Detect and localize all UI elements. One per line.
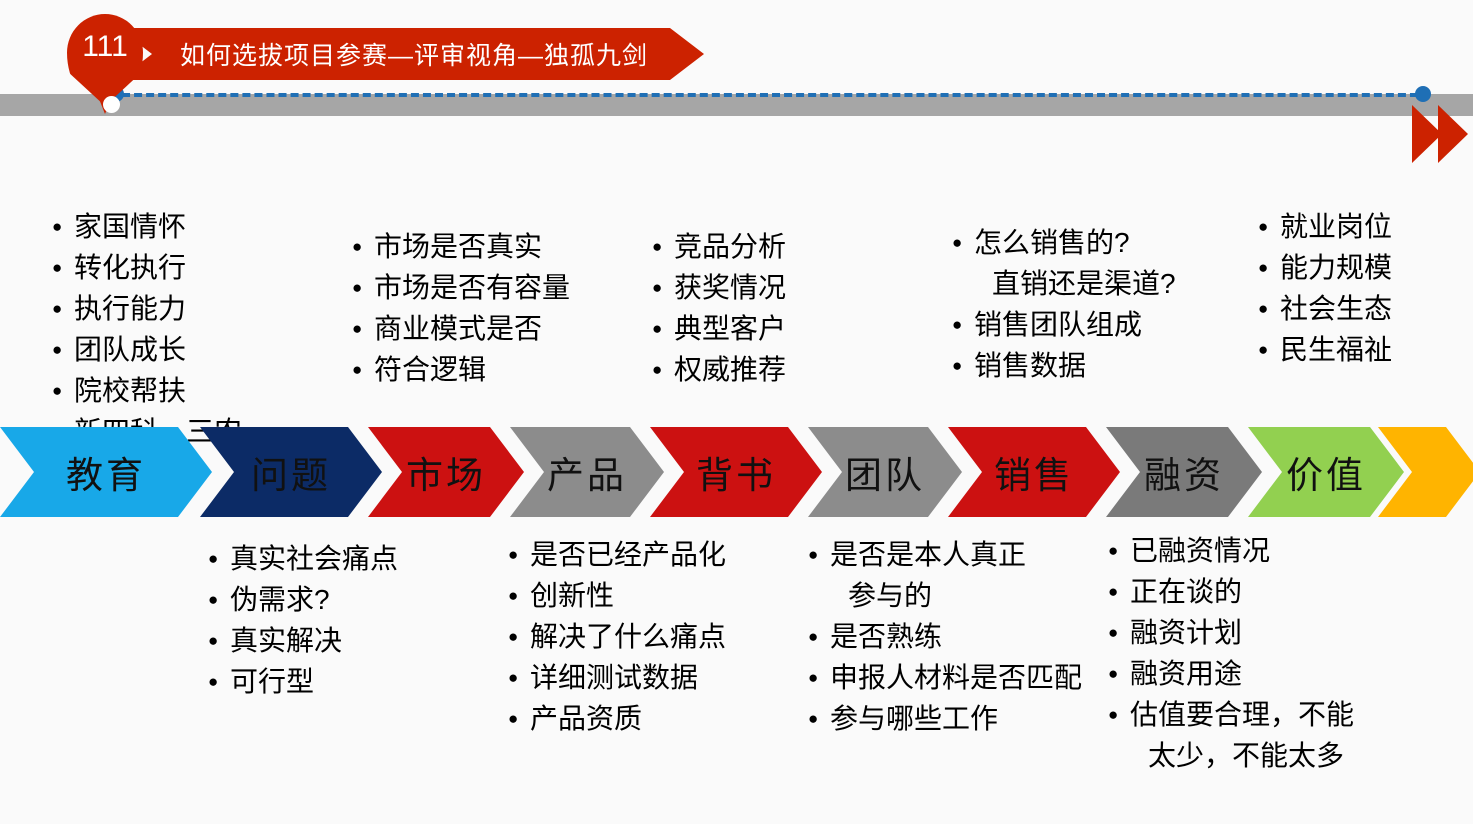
top-column-education: 家国情怀转化执行执行能力团队成长院校帮扶新四科、三农: [52, 206, 242, 452]
list-item: 解决了什么痛点: [508, 616, 726, 657]
process-step-产品[interactable]: 产品: [510, 427, 664, 517]
bottom-column-financing: 已融资情况正在谈的融资计划融资用途估值要合理，不能太少，不能太多: [1108, 530, 1354, 776]
list-item: 销售数据: [952, 345, 1176, 386]
process-step-教育[interactable]: 教育: [0, 427, 212, 517]
process-step-label: 市场: [406, 445, 486, 499]
list-item: 伪需求?: [208, 579, 398, 620]
top-column-value: 就业岗位能力规模社会生态民生福祉: [1258, 206, 1392, 370]
process-step-价值[interactable]: 价值: [1248, 427, 1404, 517]
list-item: 真实社会痛点: [208, 538, 398, 579]
list-item: 申报人材料是否匹配: [808, 657, 1082, 698]
title-banner: 如何选拔项目参赛—评审视角—独孤九剑: [118, 28, 704, 80]
list-item: 是否是本人真正: [808, 534, 1082, 575]
process-step-问题[interactable]: 问题: [200, 427, 382, 517]
bottom-column-team: 是否是本人真正参与的是否熟练申报人材料是否匹配参与哪些工作: [808, 534, 1082, 739]
header-dashed-line: [110, 93, 1430, 97]
list-item: 融资用途: [1108, 653, 1354, 694]
list-item: 真实解决: [208, 620, 398, 661]
pin-tip-dot: [103, 96, 120, 113]
list-item: 就业岗位: [1258, 206, 1392, 247]
list-item: 直销还是渠道?: [952, 263, 1176, 304]
list-item: 获奖情况: [652, 267, 786, 308]
list-item: 估值要合理，不能: [1108, 694, 1354, 735]
list-item: 家国情怀: [52, 206, 242, 247]
bottom-column-problem: 真实社会痛点伪需求?真实解决可行型: [208, 538, 398, 702]
list-item: 是否已经产品化: [508, 534, 726, 575]
top-column-market: 市场是否真实市场是否有容量商业模式是否符合逻辑: [352, 226, 570, 390]
slide-canvas: 111 如何选拔项目参赛—评审视角—独孤九剑 家国情怀转化执行执行能力团队成长院…: [0, 0, 1473, 824]
list-item: 能力规模: [1258, 247, 1392, 288]
list-item: 融资计划: [1108, 612, 1354, 653]
list-item: 市场是否真实: [352, 226, 570, 267]
list-item: 太少，不能太多: [1108, 735, 1354, 776]
list-item: 创新性: [508, 575, 726, 616]
process-step-label: 问题: [251, 445, 331, 499]
list-item: 团队成长: [52, 329, 242, 370]
list-item: 商业模式是否: [352, 308, 570, 349]
list-item: 是否熟练: [808, 616, 1082, 657]
top-column-sales: 怎么销售的?直销还是渠道?销售团队组成销售数据: [952, 222, 1176, 386]
list-item: 典型客户: [652, 308, 786, 349]
process-step-背书[interactable]: 背书: [650, 427, 822, 517]
list-item: 权威推荐: [652, 349, 786, 390]
list-item: 院校帮扶: [52, 370, 242, 411]
bottom-column-product: 是否已经产品化创新性解决了什么痛点详细测试数据产品资质: [508, 534, 726, 739]
list-item: 正在谈的: [1108, 571, 1354, 612]
list-item: 竞品分析: [652, 226, 786, 267]
list-item: 已融资情况: [1108, 530, 1354, 571]
list-item: 详细测试数据: [508, 657, 726, 698]
top-column-endorsement: 竞品分析获奖情况典型客户权威推荐: [652, 226, 786, 390]
list-item: 怎么销售的?: [952, 222, 1176, 263]
list-item: 转化执行: [52, 247, 242, 288]
page-number-pin: 111: [67, 14, 143, 106]
list-item: 可行型: [208, 661, 398, 702]
process-step-团队[interactable]: 团队: [808, 427, 962, 517]
double-chevron-icon: [1412, 105, 1473, 163]
process-step-label: 背书: [696, 445, 776, 499]
list-item: 社会生态: [1258, 288, 1392, 329]
list-item: 参与哪些工作: [808, 698, 1082, 739]
process-step-label: 团队: [845, 445, 925, 499]
process-step-label: 教育: [66, 445, 146, 499]
list-item: 市场是否有容量: [352, 267, 570, 308]
list-item: 符合逻辑: [352, 349, 570, 390]
dashed-line-right-dot: [1415, 86, 1431, 102]
process-ribbon: 教育问题市场产品背书团队销售融资价值: [0, 427, 1473, 517]
process-step-label: 销售: [994, 445, 1074, 499]
page-number: 111: [67, 32, 143, 62]
process-step-融资[interactable]: 融资: [1106, 427, 1262, 517]
list-item: 民生福祉: [1258, 329, 1392, 370]
header-gray-band: [0, 94, 1473, 116]
process-step-市场[interactable]: 市场: [368, 427, 524, 517]
process-step-label: 融资: [1144, 445, 1224, 499]
list-item: 参与的: [808, 575, 1082, 616]
process-step-label: 产品: [547, 445, 627, 499]
list-item: 销售团队组成: [952, 304, 1176, 345]
page-title: 如何选拔项目参赛—评审视角—独孤九剑: [180, 36, 648, 72]
process-step-销售[interactable]: 销售: [948, 427, 1120, 517]
process-step-label: 价值: [1286, 445, 1366, 499]
list-item: 产品资质: [508, 698, 726, 739]
list-item: 执行能力: [52, 288, 242, 329]
